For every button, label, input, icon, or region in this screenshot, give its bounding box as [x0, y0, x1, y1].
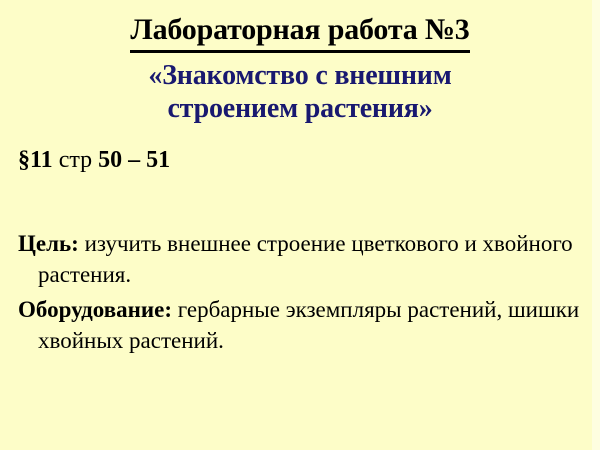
reference-pages-range: 50 – 51 [98, 147, 170, 173]
equipment-label: Оборудование: [18, 297, 172, 322]
reference-pages-label: стр [59, 147, 92, 173]
objective-paragraph: Цель: изучить внешнее строение цветковог… [18, 228, 584, 290]
objective-label: Цель: [18, 231, 79, 256]
objective-text: изучить внешнее строение цветкового и хв… [38, 231, 573, 287]
title-block: Лабораторная работа №3 «Знакомство с вне… [0, 11, 600, 125]
reference-section: §11 [18, 147, 53, 173]
page-title: Лабораторная работа №3 [130, 11, 469, 53]
equipment-paragraph: Оборудование: гербарные экземпляры расте… [18, 294, 584, 356]
reference-line: §11 стр 50 – 51 [18, 146, 170, 175]
body-block: Цель: изучить внешнее строение цветковог… [18, 228, 584, 360]
page-subtitle: «Знакомство с внешним строением растения… [0, 59, 600, 125]
slide-canvas: Лабораторная работа №3 «Знакомство с вне… [0, 0, 600, 450]
